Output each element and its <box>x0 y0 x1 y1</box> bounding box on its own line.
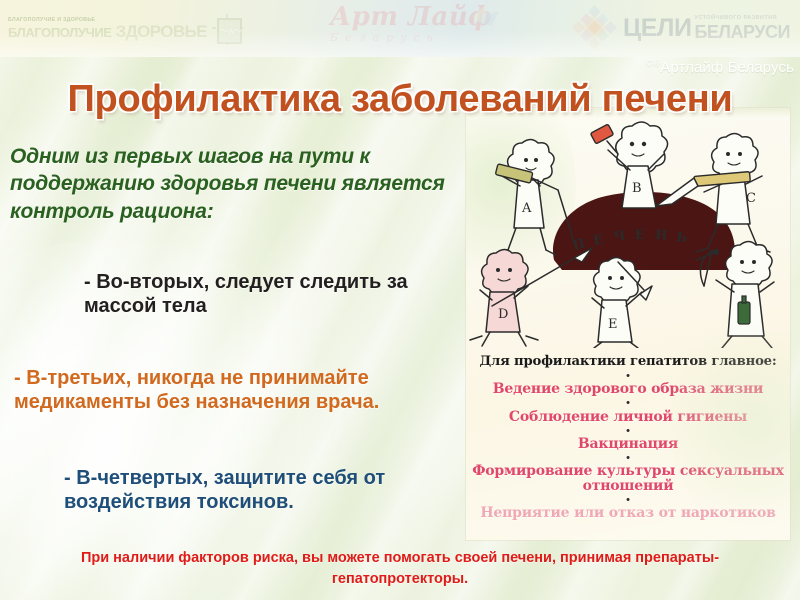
list-item: Соблюдение личной гигиены <box>466 410 790 425</box>
list-separator-dot: • <box>466 371 790 381</box>
logo-blagopoluchie-zdorovie: БЛАГОПОЛУЧИЕ И ЗДОРОВЬЕ БЛАГОПОЛУЧИЕ ЗДО… <box>8 9 198 49</box>
logo-right-country: БЕЛАРУСИ <box>694 23 789 41</box>
svg-text:Е: Е <box>635 228 646 243</box>
copyright-symbols: ©® <box>645 58 660 69</box>
list-item: Формирование культуры сексуальных отноше… <box>466 464 790 494</box>
logo-left-word2: ЗДОРОВЬЕ <box>116 23 207 40</box>
svg-text:C: C <box>746 191 756 206</box>
logo-right-celi: ЦЕЛИ <box>623 16 691 41</box>
svg-text:Н: Н <box>655 228 668 243</box>
header-band: БЛАГОПОЛУЧИЕ И ЗДОРОВЬЕ БЛАГОПОЛУЧИЕ ЗДО… <box>0 0 800 57</box>
list-item: Вакцинация <box>466 437 790 452</box>
logo-left-words: БЛАГОПОЛУЧИЕ ЗДОРОВЬЕ <box>8 23 207 40</box>
list-separator-dot: • <box>466 453 790 463</box>
panel-prevention-list: • Ведение здорового образа жизни • Соблю… <box>466 370 790 521</box>
logo-sdg-belarus: ЦЕЛИ УСТОЙЧИВОГО РАЗВИТИЯ БЕЛАРУСИ <box>572 4 792 52</box>
logo-right-tagline: УСТОЙЧИВОГО РАЗВИТИЯ <box>694 16 789 22</box>
intro-paragraph: Одним из первых шагов на пути к поддержа… <box>10 143 450 225</box>
logo-right-words: ЦЕЛИ УСТОЙЧИВОГО РАЗВИТИЯ БЕЛАРУСИ <box>623 16 790 41</box>
svg-text:B: B <box>632 181 642 196</box>
logo-right-stack: УСТОЙЧИВОГО РАЗВИТИЯ БЕЛАРУСИ <box>694 16 789 41</box>
logo-art-life: Арт Лайф Беларусь <box>330 4 505 52</box>
svg-text:A: A <box>521 201 532 216</box>
logo-left-word1: БЛАГОПОЛУЧИЕ <box>8 26 112 39</box>
svg-text:E: E <box>608 317 618 332</box>
figure-e: E <box>592 258 652 349</box>
list-item: Ведение здорового образа жизни <box>466 382 790 397</box>
copyright-notice: ©®Артлайф Беларусь <box>645 58 794 76</box>
logo-left-text: БЛАГОПОЛУЧИЕ И ЗДОРОВЬЕ БЛАГОПОЛУЧИЕ ЗДО… <box>8 18 207 40</box>
panel-heading: Для профилактики гепатитов главное: <box>466 354 790 369</box>
list-separator-dot: • <box>466 495 790 505</box>
list-separator-dot: • <box>466 398 790 408</box>
copyright-text: Артлайф Беларусь <box>660 59 794 76</box>
bullet-item-third: - В-третьих, никогда не принимайте медик… <box>14 366 464 415</box>
bullet-item-second: - Во-вторых, следует следить за массой т… <box>84 270 484 319</box>
svg-text:Ч: Ч <box>613 229 627 245</box>
svg-text:Ь: Ь <box>676 230 689 246</box>
slide-canvas: БЛАГОПОЛУЧИЕ И ЗДОРОВЬЕ БЛАГОПОЛУЧИЕ ЗДО… <box>0 0 800 600</box>
bullet-item-fourth: - В-четвертых, защитите себя от воздейст… <box>64 466 484 515</box>
list-separator-dot: • <box>466 426 790 436</box>
liver-attack-cartoon: .sk { fill:#fdfdf8; stroke:#2b2b2b; stro… <box>466 110 790 348</box>
sdg-diamond-icon <box>572 6 617 51</box>
page-title: Профилактика заболеваний печени <box>0 78 800 121</box>
illustration-panel: .sk { fill:#fdfdf8; stroke:#2b2b2b; stro… <box>466 108 790 540</box>
logo-right-line: ЦЕЛИ УСТОЙЧИВОГО РАЗВИТИЯ БЕЛАРУСИ <box>623 16 790 41</box>
svg-text:D: D <box>498 307 508 322</box>
logo-center-sub: Беларусь <box>330 31 505 44</box>
list-item: Неприятие или отказ от наркотиков <box>466 506 790 521</box>
heartbeat-monitor-icon: 〜ᴧ〜 <box>212 14 243 45</box>
footer-note: При наличии факторов риска, вы можете по… <box>50 548 750 589</box>
